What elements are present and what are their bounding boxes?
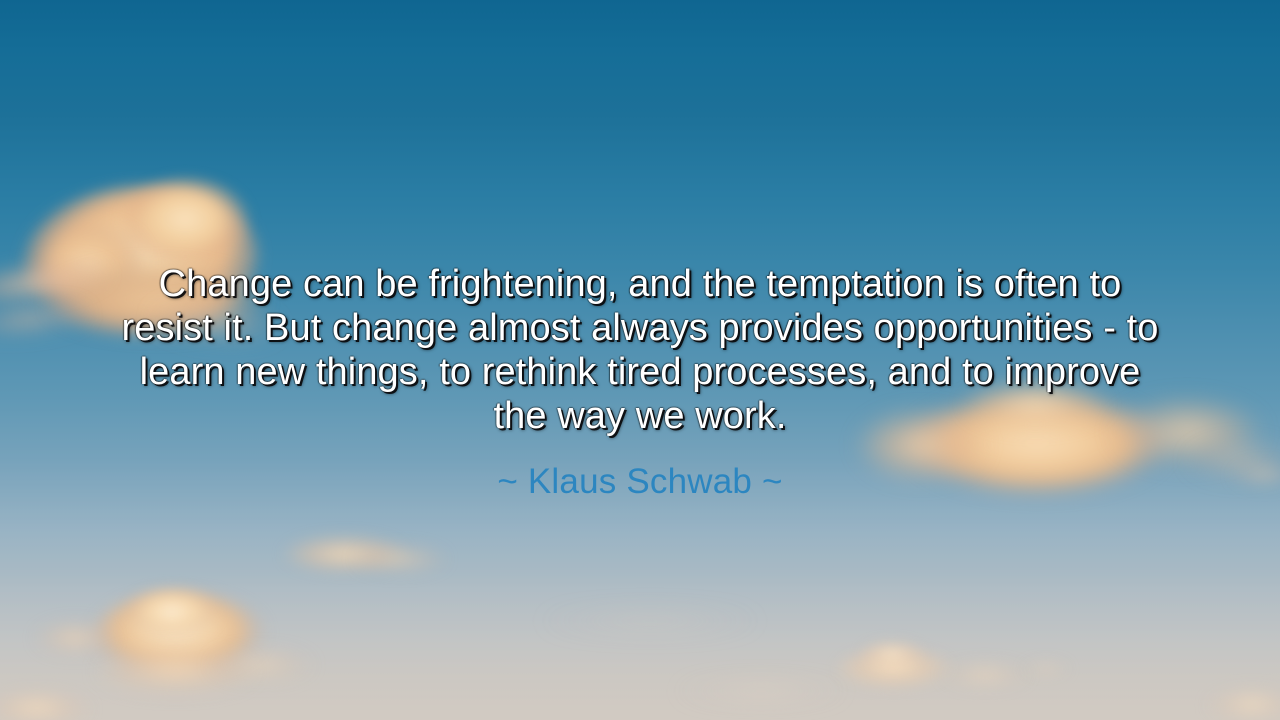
quote-card: Change can be frightening, and the tempt… bbox=[0, 0, 1280, 720]
sunset-haze-overlay bbox=[0, 460, 1280, 720]
